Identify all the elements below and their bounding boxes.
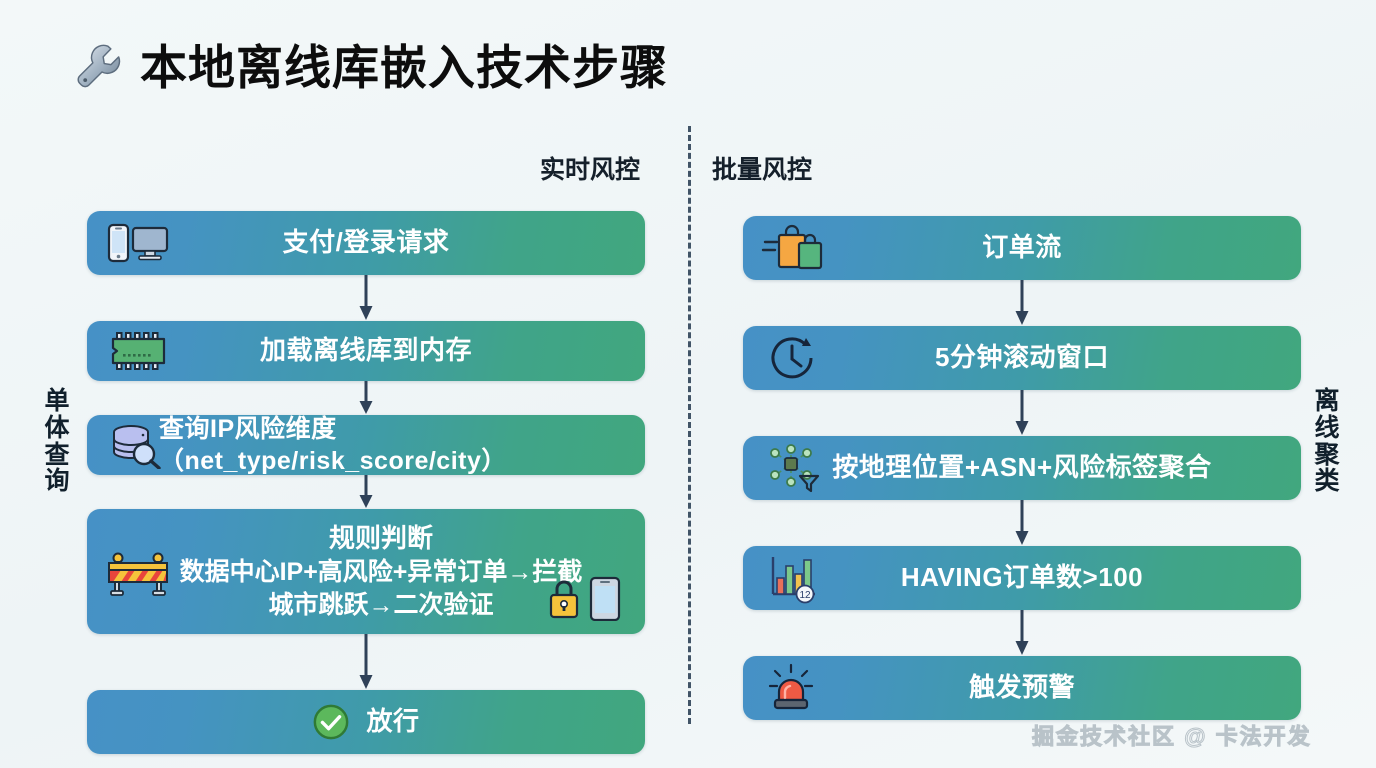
flow-arrow [743, 390, 1301, 436]
watermark: 掘金技术社区 @ 卡法开发 [1032, 719, 1312, 751]
node-allow-pass-text: 放行 [366, 705, 419, 739]
phone-monitor-icon [101, 217, 175, 269]
flow-arrow [743, 500, 1301, 546]
network-filter-icon [757, 442, 831, 494]
node-load-offline-db[interactable]: 加载离线库到内存 [87, 321, 645, 381]
page-header: 本地离线库嵌入技术步骤 [68, 38, 668, 96]
side-label-left-char-3: 查 [40, 442, 74, 469]
rule-line-1: 规则判断 [127, 521, 635, 556]
flow-arrow [87, 634, 645, 690]
node-rule-decision[interactable]: 规则判断 数据中心IP+高风险+异常订单→拦截 城市跳跃→二次验证 [87, 509, 645, 634]
barrier-icon [101, 546, 175, 598]
node-having-order-count[interactable]: 12 HAVING订单数>100 [743, 546, 1301, 610]
side-label-left-char-4: 询 [40, 468, 74, 495]
flow-arrow [743, 280, 1301, 326]
node-rolling-window[interactable]: 5分钟滚动窗口 [743, 326, 1301, 390]
siren-icon [757, 662, 831, 714]
side-label-single-query: 单 体 查 询 [40, 388, 74, 495]
lock-phone-icon [545, 575, 629, 626]
wrench-icon [68, 38, 126, 96]
side-label-offline-cluster: 离 线 聚 类 [1310, 388, 1344, 495]
column-divider [688, 126, 691, 724]
microchip-icon [101, 325, 175, 377]
side-label-left-char-1: 单 [40, 388, 74, 415]
realtime-flow-column: 支付/登录请求 加载离线库到内存 [87, 211, 645, 754]
side-label-right-char-2: 线 [1310, 415, 1344, 442]
batch-flow-column: 订单流 5分钟滚动窗口 [743, 216, 1301, 720]
side-label-left-char-2: 体 [40, 415, 74, 442]
side-label-right-char-1: 离 [1310, 388, 1344, 415]
clock-icon [757, 332, 831, 384]
svg-text:12: 12 [799, 590, 811, 601]
side-label-right-char-3: 聚 [1310, 442, 1344, 469]
node-label: 放行 [87, 703, 645, 741]
flow-arrow [87, 381, 645, 415]
node-aggregate-geo-asn[interactable]: 按地理位置+ASN+风险标签聚合 [743, 436, 1301, 500]
column-header-realtime: 实时风控 [540, 150, 640, 186]
node-payment-login-request[interactable]: 支付/登录请求 [87, 211, 645, 275]
page-title: 本地离线库嵌入技术步骤 [140, 44, 668, 91]
node-allow-pass[interactable]: 放行 [87, 690, 645, 754]
database-search-icon [101, 419, 175, 471]
node-trigger-alert[interactable]: 触发预警 [743, 656, 1301, 720]
check-circle-icon [312, 703, 350, 741]
node-query-ip-risk[interactable]: 查询IP风险维度（net_type/risk_score/city） [87, 415, 645, 475]
flow-arrow [87, 275, 645, 321]
flow-arrow [87, 475, 645, 509]
shopping-bags-icon [757, 222, 831, 274]
flow-arrow [743, 610, 1301, 656]
bar-chart-icon: 12 [757, 552, 831, 604]
side-label-right-char-4: 类 [1310, 468, 1344, 495]
slide-root: 本地离线库嵌入技术步骤 实时风控 批量风控 单 体 查 询 离 线 聚 类 [0, 0, 1376, 768]
column-header-batch: 批量风控 [712, 150, 812, 186]
node-order-stream[interactable]: 订单流 [743, 216, 1301, 280]
